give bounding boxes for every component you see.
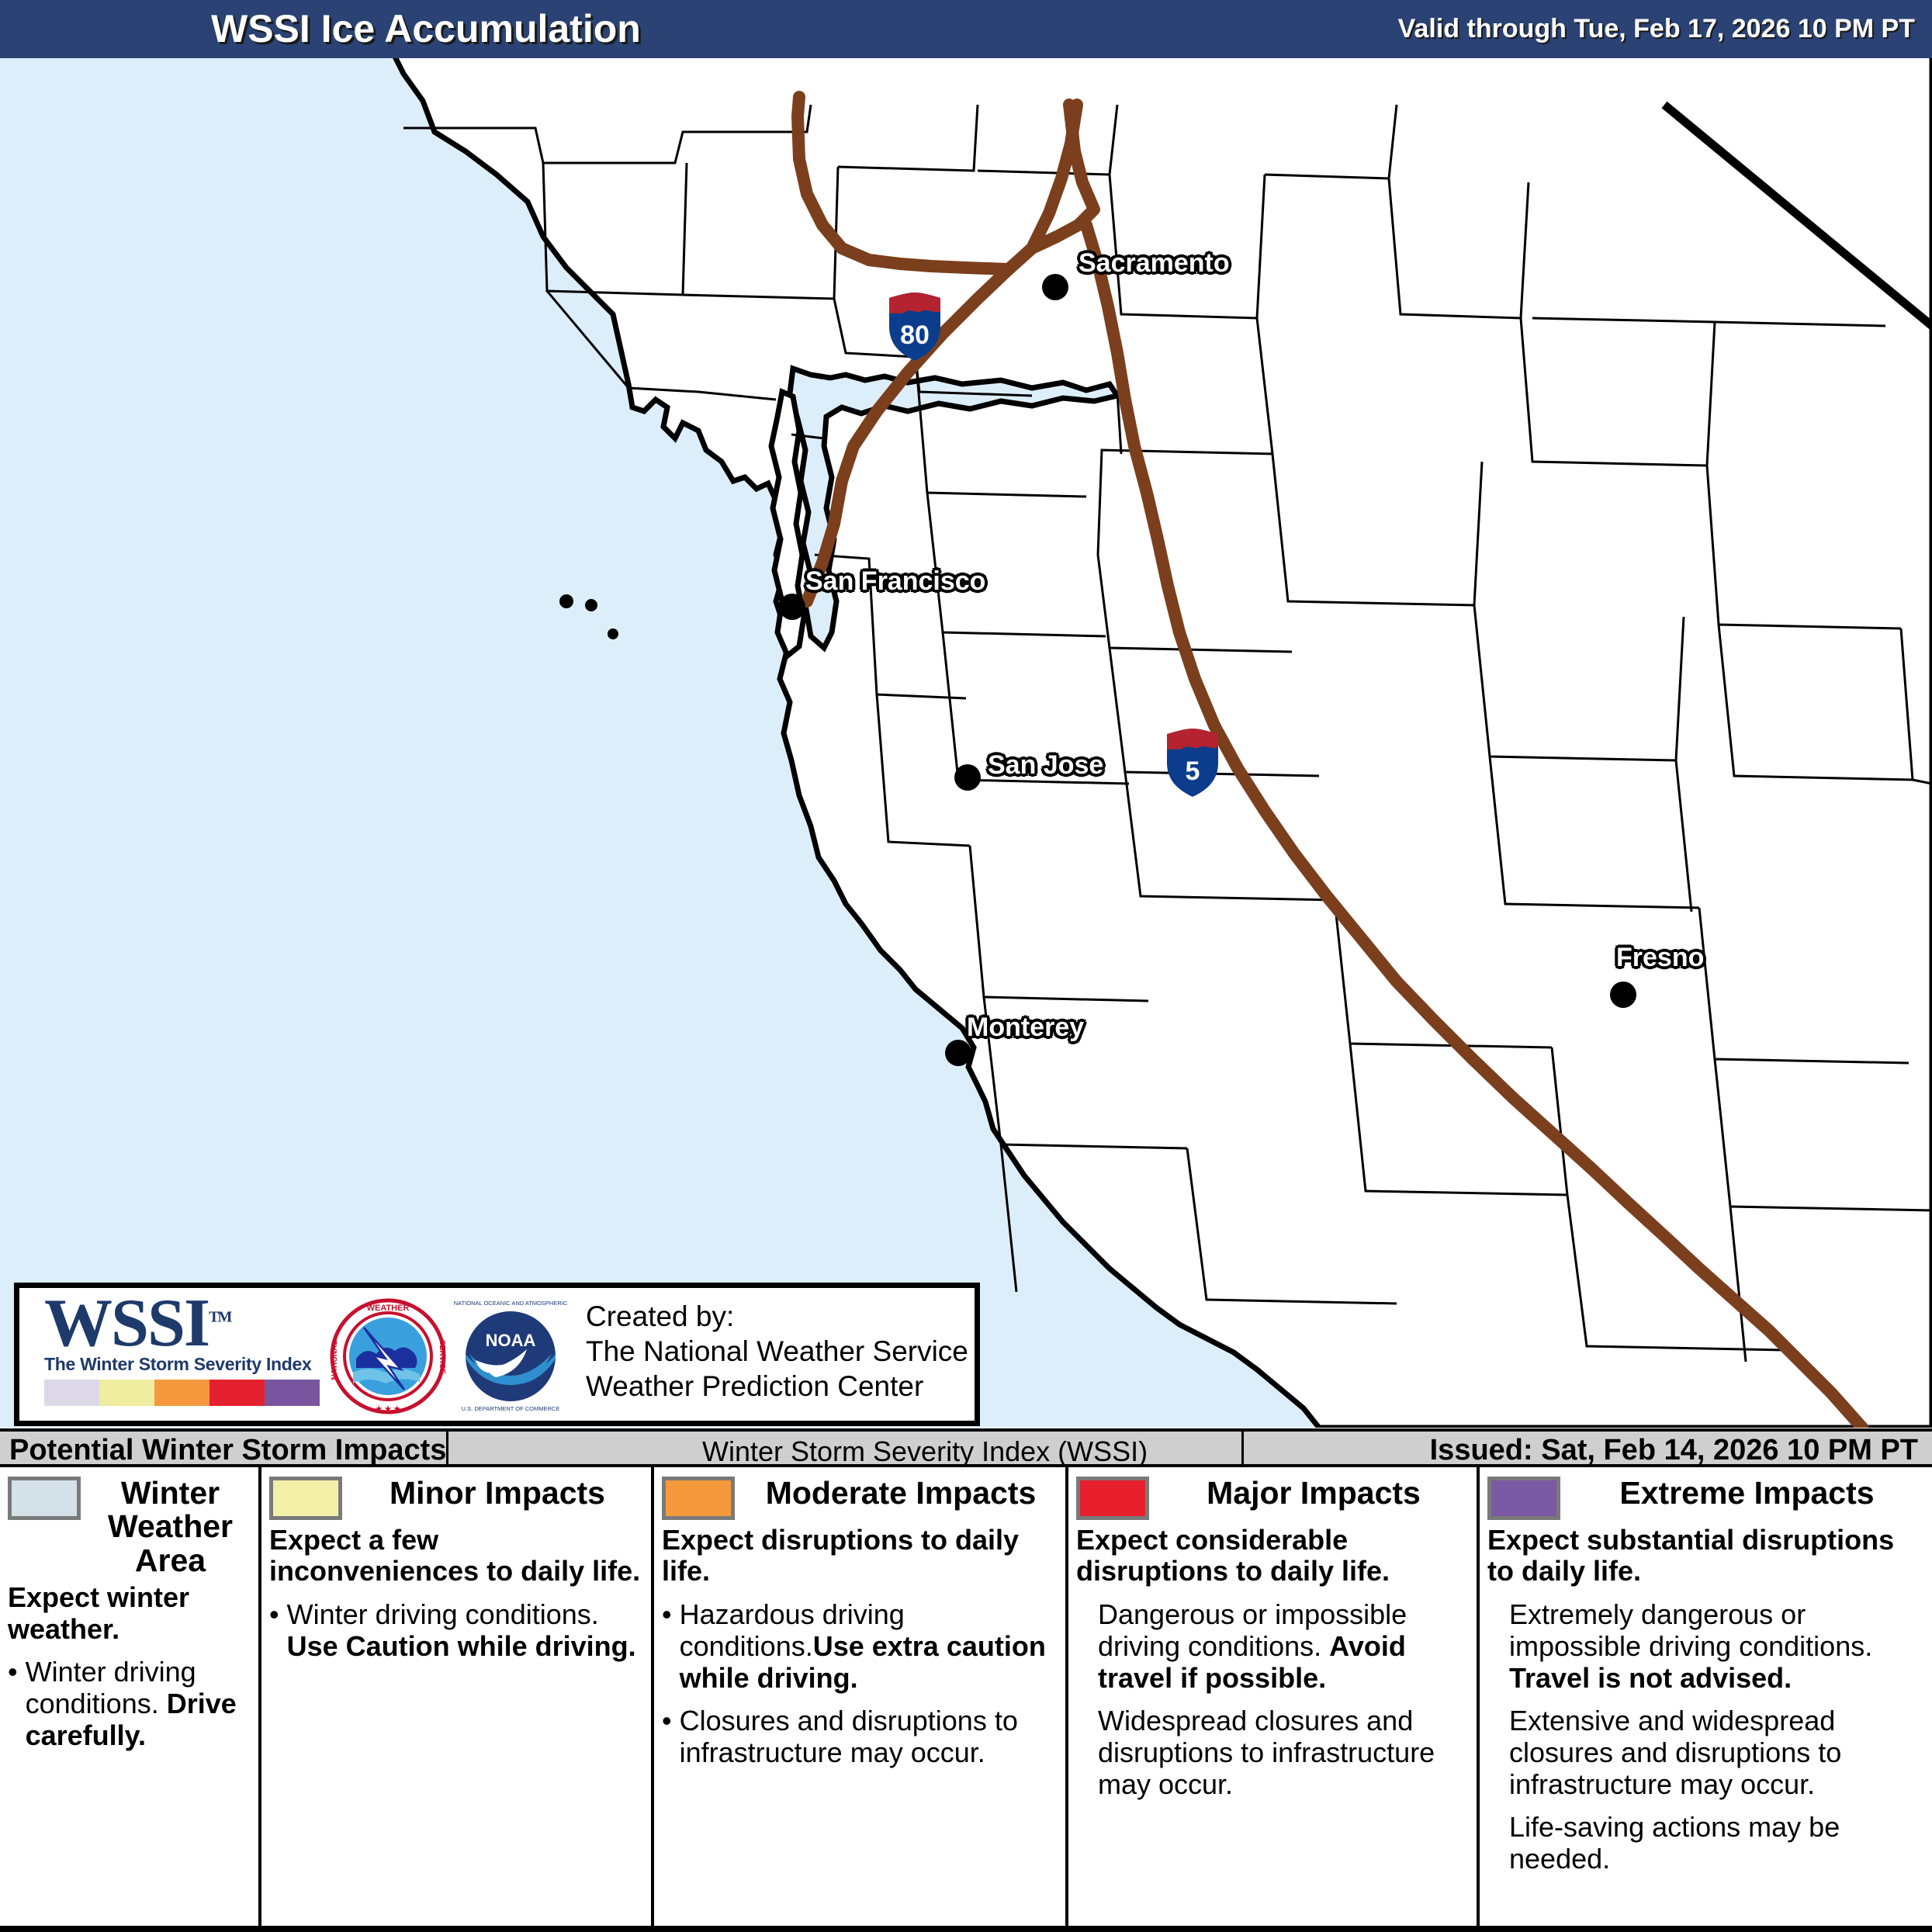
svg-text:5: 5 (1186, 757, 1200, 786)
interstate-shield-80: 80 (885, 291, 945, 362)
color-bar-swatch-extreme (265, 1380, 320, 1406)
svg-text:80: 80 (900, 320, 930, 350)
legend-title-winter-weather-area: Winter Weather Area (90, 1477, 251, 1577)
city-label-san-francisco: San Francisco (805, 566, 985, 597)
city-dot-monterey (945, 1040, 971, 1066)
bullet-dot-icon: • (662, 1598, 672, 1694)
svg-text:★ ★ ★: ★ ★ ★ (376, 1405, 400, 1414)
legend-title-minor-impacts: Minor Impacts (351, 1477, 643, 1510)
page-title: WSSI Ice Accumulation (211, 6, 641, 51)
wssi-ice-accumulation-map-page: WSSI Ice Accumulation Valid through Tue,… (0, 0, 1932, 1932)
wssi-logo-panel: WSSITM The Winter Storm Severity Index (14, 1283, 980, 1426)
bullet-dot-icon: • (662, 1705, 672, 1768)
legend-tagline-extreme-impacts: Expect substantial disruptions to daily … (1487, 1525, 1924, 1587)
wssi-wordmark: WSSITM (44, 1293, 330, 1356)
legend-title-major-impacts: Major Impacts (1158, 1477, 1469, 1510)
city-dot-san-jose (954, 764, 981, 791)
wssi-tagline: The Winter Storm Severity Index (44, 1354, 330, 1375)
color-bar-swatch-winter-weather (44, 1380, 99, 1406)
legend-swatch-winter-weather-area (8, 1477, 81, 1520)
legend-bullet: • Closures and disruptions to infrastruc… (662, 1705, 1058, 1768)
color-bar-swatch-moderate (154, 1380, 209, 1406)
agency-seals: WEATHER ★ ★ ★ NATIONAL SERVICE NOAA (330, 1288, 569, 1421)
city-label-sacramento: Sacramento (1079, 248, 1230, 279)
created-by-block: Created by: The National Weather Service… (569, 1288, 968, 1421)
legend-header: Moderate Impacts (662, 1477, 1058, 1520)
bullet-text: Winter driving conditions. Drive careful… (26, 1656, 251, 1751)
legend-paragraph: Life-saving actions may be needed. (1487, 1811, 1924, 1875)
band-middle-label: Winter Storm Severity Index (WSSI) (702, 1435, 1148, 1468)
legend-swatch-moderate-impacts (662, 1477, 735, 1520)
color-bar-swatch-minor (99, 1380, 154, 1406)
legend-tagline-minor-impacts: Expect a few inconveniences to daily lif… (269, 1525, 643, 1587)
city-dot-fresno (1610, 982, 1636, 1008)
city-dot-san-francisco (779, 594, 805, 620)
paragraph-normal-text: Widespread closures and disruptions to i… (1098, 1705, 1435, 1800)
impacts-band: Potential Winter Storm Impacts Winter St… (0, 1428, 1932, 1467)
svg-text:NOAA: NOAA (486, 1331, 536, 1350)
created-by-label: Created by: (586, 1299, 968, 1334)
legend-swatch-minor-impacts (269, 1477, 342, 1520)
wssi-brand-block: WSSITM The Winter Storm Severity Index (19, 1288, 330, 1421)
color-bar-swatch-major (209, 1380, 265, 1406)
legend-paragraph: Extremely dangerous or impossible drivin… (1487, 1598, 1924, 1694)
bullet-text: Closures and disruptions to infrastructu… (680, 1705, 1058, 1768)
bullet-normal-text: Winter driving conditions. (287, 1598, 599, 1630)
map-canvas[interactable]: Sacramento San Francisco San Jose Fresno… (0, 58, 1932, 1428)
noaa-seal: NOAA NATIONAL OCEANIC AND ATMOSPHERIC U.… (452, 1298, 569, 1414)
legend-bullet: • Winter driving conditions. Use Caution… (269, 1598, 643, 1662)
svg-text:SERVICE: SERVICE (438, 1340, 446, 1374)
legend-swatch-extreme-impacts (1487, 1477, 1560, 1520)
legend-paragraph: Extensive and widespread closures and di… (1487, 1705, 1924, 1800)
legend-tagline-major-impacts: Expect considerable disruptions to daily… (1076, 1525, 1469, 1587)
band-issued-label: Issued: Sat, Feb 14, 2026 10 PM PT (1430, 1434, 1918, 1467)
band-divider-right (1241, 1432, 1244, 1464)
bullet-bold-text: Use Caution while driving. (287, 1630, 636, 1662)
legend-paragraph: Widespread closures and disruptions to i… (1076, 1705, 1469, 1800)
paragraph-normal-text: Extensive and widespread closures and di… (1509, 1705, 1841, 1800)
city-dot-sacramento (1042, 274, 1068, 300)
legend-tagline-moderate-impacts: Expect disruptions to daily life. (662, 1525, 1058, 1587)
bullet-text: Hazardous driving conditions.Use extra c… (680, 1598, 1058, 1694)
band-divider-left (446, 1432, 448, 1464)
legend-column-winter-weather-area[interactable]: Winter Weather Area Expect winter weathe… (0, 1467, 261, 1926)
svg-text:WEATHER: WEATHER (367, 1304, 410, 1313)
legend-panel: Winter Weather Area Expect winter weathe… (0, 1467, 1932, 1932)
island-dot-2 (585, 599, 597, 611)
legend-title-moderate-impacts: Moderate Impacts (744, 1477, 1058, 1510)
created-by-agency: The National Weather Service (586, 1334, 968, 1369)
paragraph-bold-text: Travel is not advised. (1509, 1662, 1792, 1694)
legend-column-moderate-impacts[interactable]: Moderate Impacts Expect disruptions to d… (654, 1467, 1068, 1926)
created-by-center: Weather Prediction Center (586, 1369, 968, 1404)
valid-through-text: Valid through Tue, Feb 17, 2026 10 PM PT (1398, 14, 1915, 44)
national-weather-service-seal: WEATHER ★ ★ ★ NATIONAL SERVICE (330, 1298, 446, 1414)
svg-text:NATIONAL: NATIONAL (331, 1340, 339, 1380)
legend-header: Extreme Impacts (1487, 1477, 1924, 1520)
city-label-monterey: Monterey (967, 1013, 1084, 1043)
paragraph-normal-text: Extremely dangerous or impossible drivin… (1509, 1598, 1872, 1662)
bullet-text: Winter driving conditions. Use Caution w… (287, 1598, 643, 1662)
interstate-shield-5: 5 (1162, 727, 1223, 798)
city-label-san-jose: San Jose (988, 750, 1103, 781)
legend-column-extreme-impacts[interactable]: Extreme Impacts Expect substantial disru… (1480, 1467, 1932, 1926)
bullet-dot-icon: • (8, 1656, 18, 1751)
legend-tagline-winter-weather-area: Expect winter weather. (8, 1582, 251, 1645)
svg-text:U.S. DEPARTMENT OF COMMERCE: U.S. DEPARTMENT OF COMMERCE (462, 1405, 560, 1412)
legend-title-extreme-impacts: Extreme Impacts (1570, 1477, 1924, 1510)
legend-column-major-impacts[interactable]: Major Impacts Expect considerable disrup… (1068, 1467, 1480, 1926)
bullet-dot-icon: • (269, 1598, 279, 1662)
legend-column-minor-impacts[interactable]: Minor Impacts Expect a few inconvenience… (261, 1467, 654, 1926)
legend-paragraph: Dangerous or impossible driving conditio… (1076, 1598, 1469, 1694)
paragraph-normal-text: Life-saving actions may be needed. (1509, 1811, 1840, 1875)
wssi-severity-color-bar (44, 1380, 320, 1406)
legend-header: Major Impacts (1076, 1477, 1469, 1520)
legend-swatch-major-impacts (1076, 1477, 1149, 1520)
header-bar: WSSI Ice Accumulation Valid through Tue,… (0, 0, 1932, 58)
legend-header: Minor Impacts (269, 1477, 643, 1520)
bullet-normal-text: Closures and disruptions to infrastructu… (680, 1705, 1018, 1768)
legend-header: Winter Weather Area (8, 1477, 251, 1577)
svg-text:NATIONAL OCEANIC AND ATMOSPHER: NATIONAL OCEANIC AND ATMOSPHERIC (454, 1300, 568, 1307)
map-geometry (0, 58, 1932, 1428)
trademark-mark: TM (209, 1309, 230, 1326)
legend-bullet: • Hazardous driving conditions.Use extra… (662, 1598, 1058, 1694)
island-dot-3 (608, 628, 618, 639)
island-dot-1 (559, 594, 573, 608)
city-label-fresno: Fresno (1616, 943, 1704, 973)
legend-bullet: • Winter driving conditions. Drive caref… (8, 1656, 251, 1751)
band-left-label: Potential Winter Storm Impacts (9, 1434, 446, 1467)
